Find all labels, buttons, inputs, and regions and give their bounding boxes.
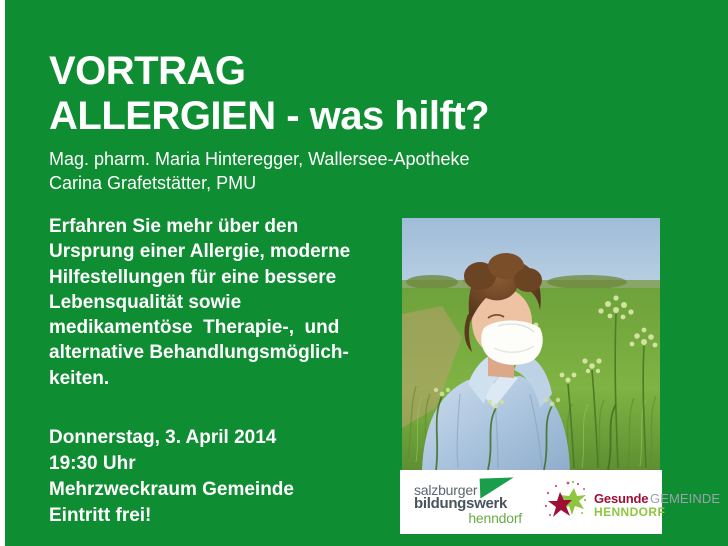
event-poster: VORTRAG ALLERGIEN - was hilft? Mag. phar… bbox=[0, 0, 728, 546]
presenters-block: Mag. pharm. Maria Hinteregger, Wallersee… bbox=[49, 148, 470, 196]
gesunde-gemeinde-henndorf-logo: Gesunde GEMEINDE HENNDORF bbox=[544, 478, 694, 526]
event-details-block: Donnerstag, 3. April 2014 19:30 Uhr Mehr… bbox=[49, 425, 294, 529]
description-line: alternative Behandlungsmöglich- bbox=[49, 340, 394, 365]
event-time: 19:30 Uhr bbox=[49, 451, 294, 477]
description-line: keiten. bbox=[49, 366, 394, 391]
sneezing-woman-photo bbox=[402, 218, 660, 470]
logo-text-henndorf: HENNDORF bbox=[594, 505, 665, 519]
presenter-line: Mag. pharm. Maria Hinteregger, Wallersee… bbox=[49, 148, 470, 172]
description-line: medikamentöse Therapie-, und bbox=[49, 315, 394, 340]
logo-line-henndorf: henndorf bbox=[468, 510, 522, 526]
headline-line-1: VORTRAG bbox=[49, 50, 489, 92]
event-location: Mehrzweckraum Gemeinde bbox=[49, 477, 294, 503]
logo-text-gemeinde: GEMEINDE bbox=[594, 491, 720, 506]
description-block: Erfahren Sie mehr über den Ursprung eine… bbox=[49, 214, 394, 391]
description-line: Erfahren Sie mehr über den bbox=[49, 214, 394, 239]
event-date: Donnerstag, 3. April 2014 bbox=[49, 425, 294, 451]
presenter-line: Carina Grafetstätter, PMU bbox=[49, 172, 470, 196]
salzburger-bildungswerk-henndorf-logo: salzburger bildungswerk henndorf bbox=[408, 478, 530, 526]
description-line: Ursprung einer Allergie, moderne bbox=[49, 239, 394, 264]
description-line: Hilfestellungen für eine bessere bbox=[49, 265, 394, 290]
star-figures-icon bbox=[544, 480, 590, 524]
headline-line-2: ALLERGIEN - was hilft? bbox=[49, 95, 489, 137]
page-title: VORTRAG ALLERGIEN - was hilft? bbox=[49, 50, 489, 137]
event-admission: Eintritt frei! bbox=[49, 503, 294, 529]
sneezing-woman-meadow-photo-icon bbox=[402, 218, 660, 470]
description-line: Lebensqualität sowie bbox=[49, 290, 394, 315]
sponsor-logo-band: salzburger bildungswerk henndorf bbox=[400, 470, 662, 534]
